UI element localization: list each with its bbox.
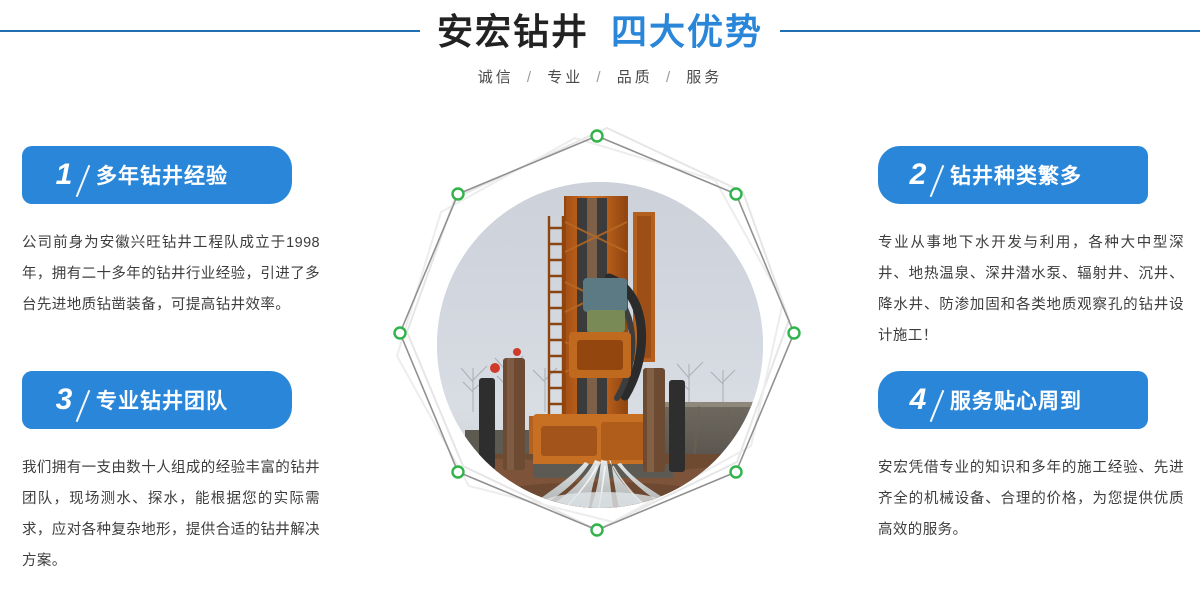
feature-title-2: 钻井种类繁多 bbox=[950, 160, 1082, 190]
subtitle-separator-2: / bbox=[596, 69, 603, 86]
feature-body-4: 安宏凭借专业的知识和多年的施工经验、先进齐全的机械设备、合理的价格，为您提供优质… bbox=[860, 453, 1200, 546]
subtitle-separator-1: / bbox=[527, 69, 534, 86]
feature-card-3: 3 专业钻井团队 我们拥有一支由数十人组成的经验丰富的钻井团队，现场测水、探水，… bbox=[0, 371, 340, 577]
page-subtitle: 诚信 / 专业 / 品质 / 服务 bbox=[0, 66, 1200, 87]
feature-number-1: 1 bbox=[44, 160, 84, 190]
node-bottom-right bbox=[731, 467, 742, 478]
feature-badge-1: 1 多年钻井经验 bbox=[22, 146, 292, 204]
promo-banner: 安宏钻井四大优势 诚信 / 专业 / 品质 / 服务 1 多年钻井经验 公司前身… bbox=[0, 0, 1200, 600]
feature-number-3: 3 bbox=[44, 385, 84, 415]
page-title-brand: 安宏钻井 bbox=[437, 11, 589, 52]
feature-body-2: 专业从事地下水开发与利用，各种大中型深井、地热温泉、深井潜水泵、辐射井、沉井、降… bbox=[860, 228, 1200, 352]
center-photo bbox=[437, 182, 763, 508]
subtitle-item-4: 服务 bbox=[686, 69, 722, 86]
node-top-left bbox=[453, 189, 464, 200]
node-top-right bbox=[731, 189, 742, 200]
subtitle-item-2: 专业 bbox=[547, 69, 583, 86]
node-top bbox=[592, 131, 603, 142]
subtitle-item-1: 诚信 bbox=[478, 69, 514, 86]
node-right bbox=[789, 328, 800, 339]
feature-title-3: 专业钻井团队 bbox=[96, 385, 228, 415]
feature-body-1: 公司前身为安徽兴旺钻井工程队成立于1998年，拥有二十多年的钻井行业经验，引进了… bbox=[0, 228, 340, 321]
feature-badge-3: 3 专业钻井团队 bbox=[22, 371, 292, 429]
page-title: 安宏钻井四大优势 bbox=[0, 8, 1200, 56]
feature-badge-2: 2 钻井种类繁多 bbox=[878, 146, 1148, 204]
subtitle-item-3: 品质 bbox=[617, 69, 653, 86]
subtitle-separator-3: / bbox=[666, 69, 673, 86]
feature-card-2: 2 钻井种类繁多 专业从事地下水开发与利用，各种大中型深井、地热温泉、深井潜水泵… bbox=[860, 146, 1200, 352]
feature-number-4: 4 bbox=[898, 385, 938, 415]
page-title-highlight: 四大优势 bbox=[611, 11, 763, 52]
feature-card-4: 4 服务贴心周到 安宏凭借专业的知识和多年的施工经验、先进齐全的机械设备、合理的… bbox=[860, 371, 1200, 546]
feature-card-1: 1 多年钻井经验 公司前身为安徽兴旺钻井工程队成立于1998年，拥有二十多年的钻… bbox=[0, 146, 340, 321]
feature-body-3: 我们拥有一支由数十人组成的经验丰富的钻井团队，现场测水、探水，能根据您的实际需求… bbox=[0, 453, 340, 577]
feature-number-2: 2 bbox=[898, 160, 938, 190]
feature-title-1: 多年钻井经验 bbox=[96, 160, 228, 190]
feature-title-4: 服务贴心周到 bbox=[950, 385, 1082, 415]
feature-badge-4: 4 服务贴心周到 bbox=[878, 371, 1148, 429]
node-left bbox=[395, 328, 406, 339]
node-bottom-left bbox=[453, 467, 464, 478]
node-bottom bbox=[592, 525, 603, 536]
